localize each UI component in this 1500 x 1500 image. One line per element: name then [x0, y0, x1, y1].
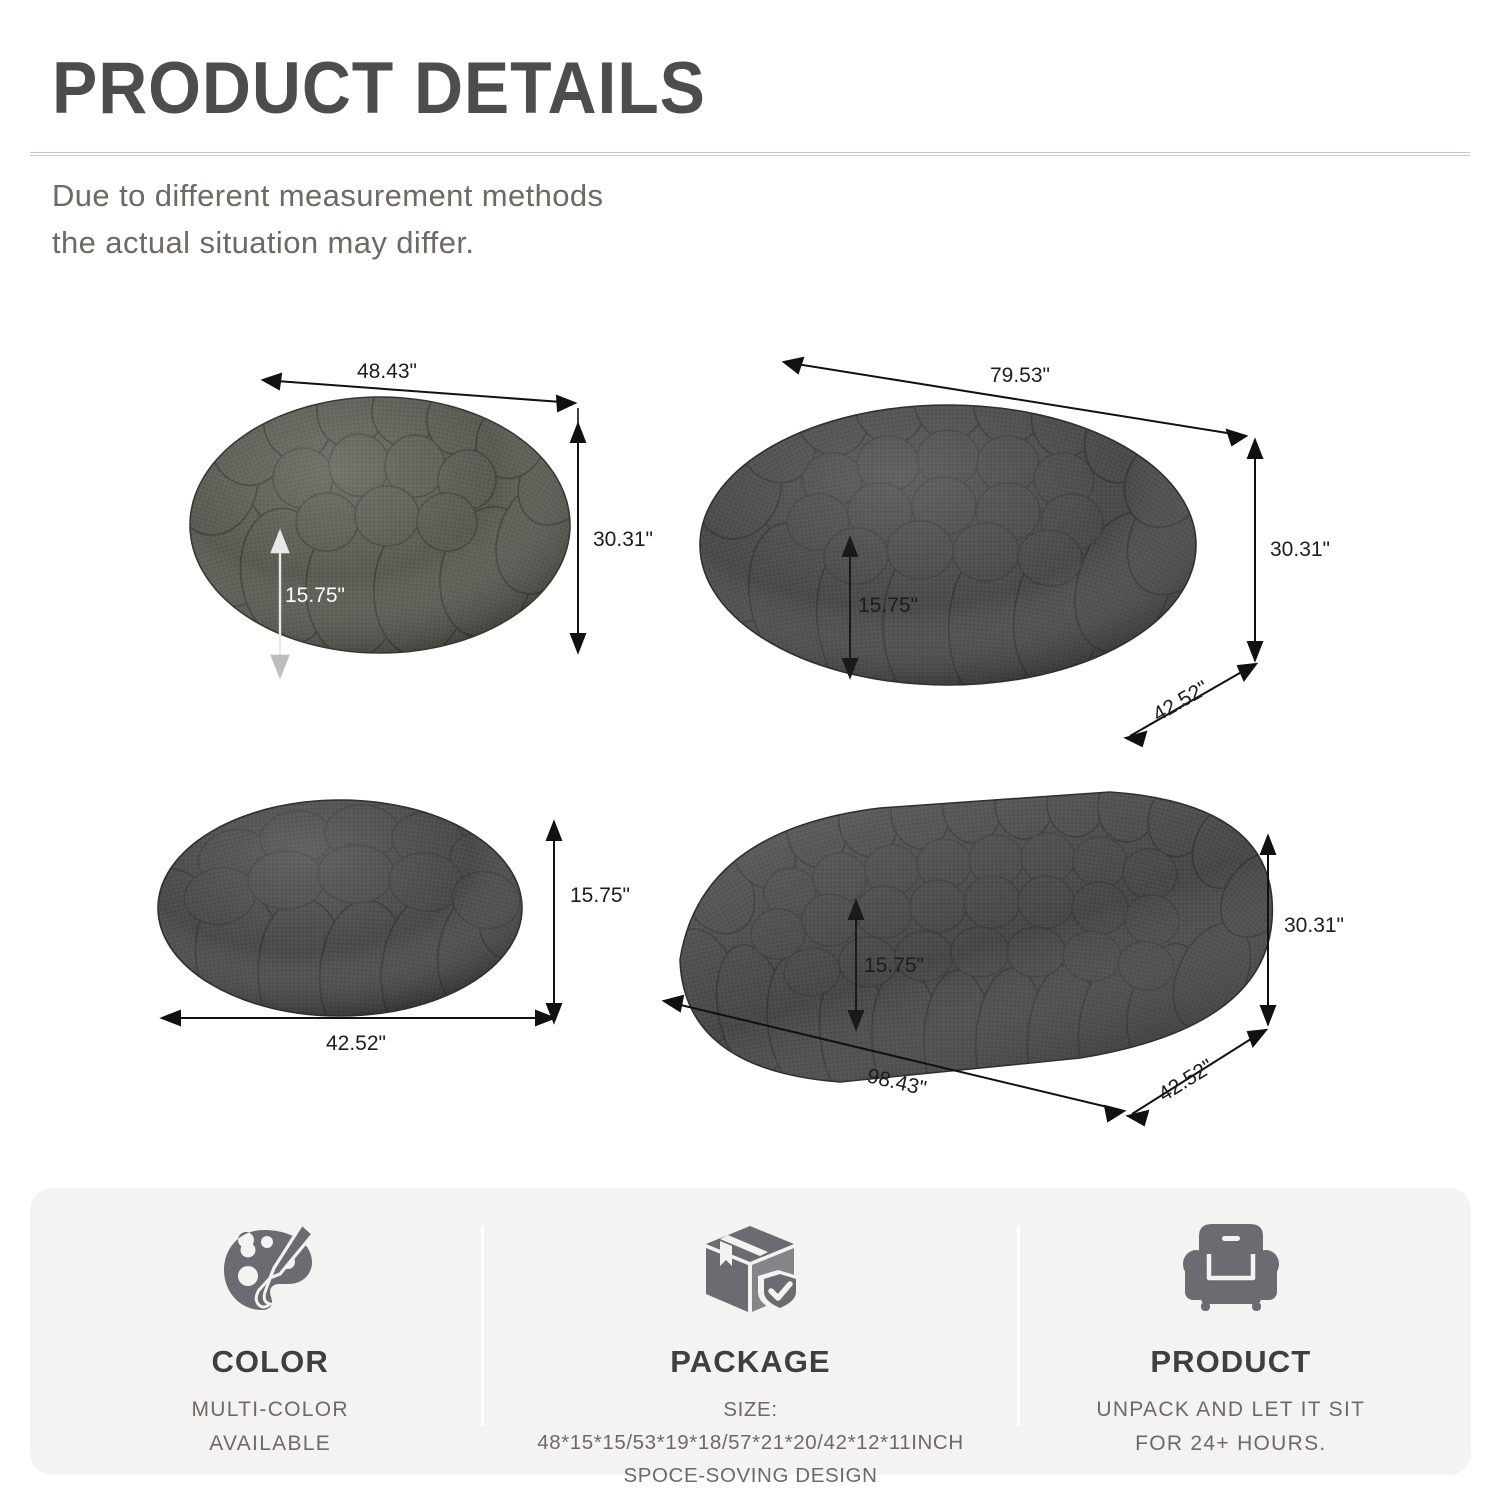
product-loveseat-diagram: 79.53" 30.31" 42.52": [690, 340, 1330, 740]
package-box-icon: [698, 1218, 802, 1322]
header: PRODUCT DETAILS: [52, 52, 1460, 126]
divider-line-top: [30, 152, 1470, 153]
palette-icon: [218, 1218, 322, 1322]
product-diagram-grid: 48.43" 30.31" 15.75": [0, 320, 1500, 1180]
feature-package: PACKAGE SIZE: 48*15*15/53*19*18/57*21*20…: [510, 1188, 990, 1475]
product-details-page: PRODUCT DETAILS Due to different measure…: [0, 0, 1500, 1500]
product-ottoman-diagram: 15.75" 42.52": [150, 790, 630, 1090]
loveseat-seat-height-label: 15.75": [858, 594, 918, 617]
feature-product-title: PRODUCT: [1150, 1344, 1311, 1380]
armchair-body: [162, 372, 614, 660]
loveseat-height-label: 30.31": [1270, 538, 1330, 561]
ottoman-body: [120, 800, 581, 1050]
sofa-depth-label: 42.52": [1154, 1055, 1217, 1106]
armchair-height-label: 30.31": [593, 528, 653, 551]
feature-color-subtitle: MULTI-COLOR AVAILABLE: [191, 1393, 348, 1461]
feature-product-subtitle: UNPACK AND LET IT SIT FOR 24+ HOURS.: [1096, 1393, 1365, 1461]
armchair-icon: [1179, 1218, 1283, 1322]
armchair-width-label: 48.43": [357, 360, 417, 383]
sofa-height-label: 30.31": [1284, 914, 1344, 937]
feature-package-subtitle: SIZE: 48*15*15/53*19*18/57*21*20/42*12*1…: [510, 1393, 990, 1493]
feature-panel: COLOR MULTI-COLOR AVAILABLE: [30, 1188, 1471, 1475]
divider-line-bottom: [30, 155, 1470, 156]
armchair-seat-height-label: 15.75": [285, 584, 345, 607]
header-divider: [30, 152, 1470, 156]
feature-list: COLOR MULTI-COLOR AVAILABLE: [30, 1188, 1471, 1475]
product-armchair-diagram: 48.43" 30.31" 15.75": [175, 350, 645, 700]
feature-package-title: PACKAGE: [670, 1344, 830, 1380]
feature-color: COLOR MULTI-COLOR AVAILABLE: [30, 1188, 510, 1475]
header-subtitle: Due to different measurement methods the…: [52, 172, 603, 266]
ottoman-height-label: 15.75": [570, 884, 630, 907]
loveseat-body: [664, 355, 1244, 705]
ottoman-width-label: 42.52": [326, 1032, 386, 1055]
feature-product: PRODUCT UNPACK AND LET IT SIT FOR 24+ HO…: [991, 1188, 1471, 1475]
loveseat-height-dimension: [1248, 440, 1262, 660]
armchair-height-dimension: [571, 424, 585, 652]
ottoman-height-dimension: [547, 822, 561, 1022]
sofa-seat-height-label: 15.75": [864, 954, 924, 977]
product-sofa-diagram: 30.31" 98.43" 42.52": [640, 770, 1340, 1150]
loveseat-width-label: 79.53": [990, 364, 1050, 387]
loveseat-depth-label: 42.52": [1149, 676, 1212, 726]
feature-color-title: COLOR: [211, 1344, 328, 1380]
page-title: PRODUCT DETAILS: [52, 52, 1361, 126]
